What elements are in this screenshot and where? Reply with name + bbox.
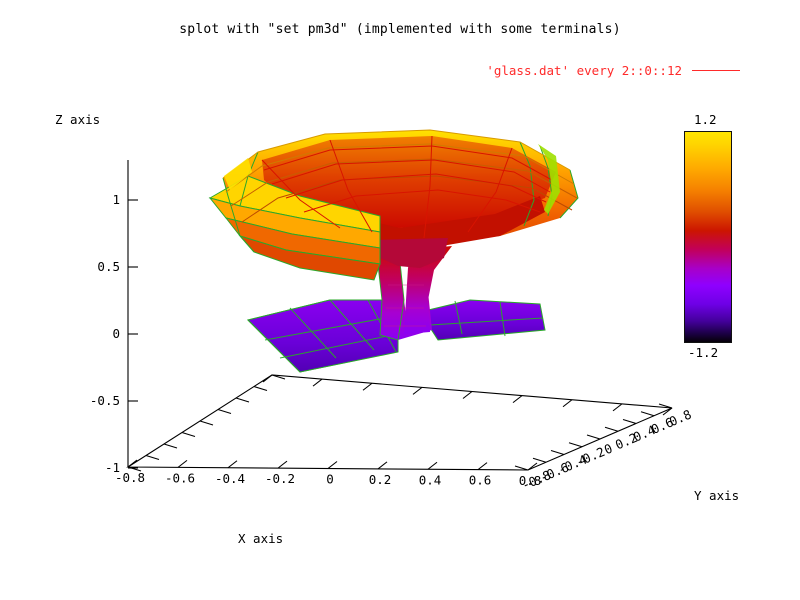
x-back-tick-mark <box>313 379 322 386</box>
z-tick-label: 0.5 <box>97 259 120 274</box>
x-tick-mark <box>428 462 437 469</box>
x-back-tick-mark <box>413 387 422 394</box>
y-tick-label: -0.2 <box>573 444 607 470</box>
y-tick-mark <box>569 443 582 447</box>
x-back-tick-mark <box>263 375 272 382</box>
y-back-tick-mark <box>200 421 213 425</box>
z-tick-label: -0.5 <box>90 393 120 408</box>
x-tick-label: 0.4 <box>419 472 442 487</box>
x-back-tick-mark <box>563 400 572 407</box>
x-tick-label: 0 <box>326 472 334 487</box>
x-back-tick-mark <box>363 383 372 390</box>
foot-front-panel <box>248 300 398 372</box>
x-tick-mark <box>178 460 187 467</box>
x-tick-mark <box>278 461 287 468</box>
z-tick-label: 1 <box>112 192 120 207</box>
y-back-tick-mark <box>182 433 195 437</box>
y-back-tick-mark <box>218 410 231 414</box>
y-back-tick-mark <box>146 456 159 460</box>
x-tick-mark <box>478 463 487 470</box>
y-tick-mark <box>641 412 654 416</box>
x-tick-label: -0.4 <box>215 471 245 486</box>
glass-surface <box>210 130 578 372</box>
y-tick-mark <box>623 420 636 424</box>
surface-plot-svg: 10.50-0.5-1 -0.8-0.6-0.4-0.200.20.40.60.… <box>0 0 800 600</box>
foot-right-panel <box>420 300 545 340</box>
x-tick-mark <box>228 461 237 468</box>
y-tick-mark <box>533 458 546 462</box>
x-tick-label: -0.6 <box>165 470 195 485</box>
x-back-tick-mark <box>463 392 472 399</box>
z-axis-ticks: 10.50-0.5-1 <box>90 192 138 475</box>
y-tick-label: 0.8 <box>667 407 694 430</box>
y-back-tick-mark <box>236 398 249 402</box>
y-tick-mark <box>605 427 618 431</box>
x-tick-label: -0.8 <box>115 470 145 485</box>
y-back-tick-mark <box>164 444 177 448</box>
y-back-tick-mark <box>254 387 267 391</box>
x-tick-mark <box>128 460 137 467</box>
y-axis-ticks: -0.8-0.6-0.4-0.200.20.40.60.8 <box>515 404 694 493</box>
x-tick-mark <box>328 462 337 469</box>
x-tick-label: 0.6 <box>469 473 492 488</box>
x-back-tick-mark <box>613 404 622 411</box>
z-tick-label: 0 <box>112 326 120 341</box>
x-axis-ticks: -0.8-0.6-0.4-0.200.20.40.60.8 <box>115 460 541 488</box>
y-tick-mark <box>587 435 600 439</box>
x-back-tick-mark <box>513 396 522 403</box>
gnuplot-canvas: splot with "set pm3d" (implemented with … <box>0 0 800 600</box>
y-tick-mark <box>551 451 564 455</box>
x-tick-label: 0.2 <box>369 472 392 487</box>
x-tick-mark <box>378 462 387 469</box>
x-tick-label: -0.2 <box>265 471 295 486</box>
